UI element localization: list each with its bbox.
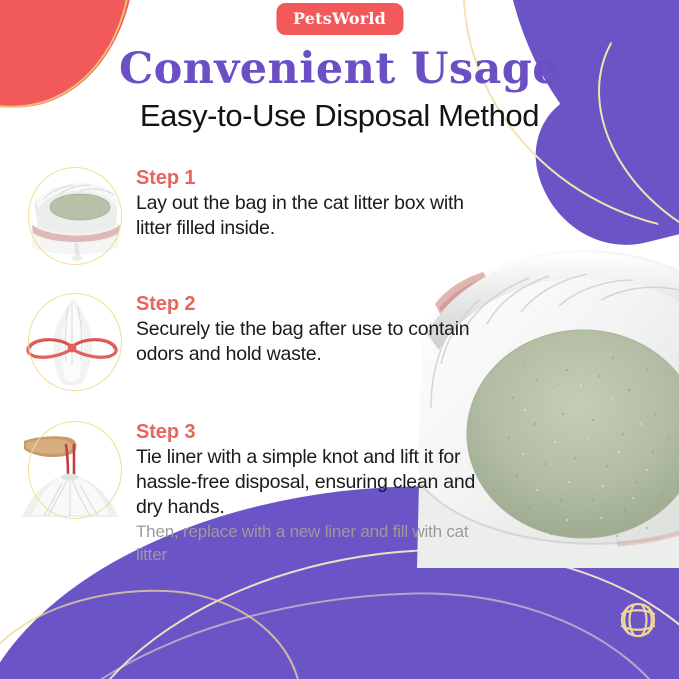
step-3-note: Then, replace with a new liner and fill … xyxy=(136,521,488,565)
step-1-body: Lay out the bag in the cat litter box wi… xyxy=(136,191,488,241)
step-item-2: Step 2 Securely tie the bag after use to… xyxy=(18,289,488,393)
step-2-title: Step 2 xyxy=(136,293,488,316)
step-3-title: Step 3 xyxy=(136,421,488,444)
step-item-1: Step 1 Lay out the bag in the cat litter… xyxy=(18,163,488,267)
step-2-text: Step 2 Securely tie the bag after use to… xyxy=(126,289,488,367)
litter-box-with-liner-thumbnail xyxy=(18,163,126,267)
gold-ring-1 xyxy=(28,167,122,265)
hand-lifting-bag-thumbnail xyxy=(18,417,126,521)
steps-list: Step 1 Lay out the bag in the cat litter… xyxy=(18,163,488,582)
tied-bag-with-bow-thumbnail xyxy=(18,289,126,393)
step-1-title: Step 1 xyxy=(136,167,488,190)
page-title: Convenient Usage xyxy=(0,44,679,94)
gold-ring-3 xyxy=(28,421,122,519)
step-3-text: Step 3 Tie liner with a simple knot and … xyxy=(126,417,488,566)
yarn-ball-icon xyxy=(615,597,661,643)
brand-logo: PetsWorld xyxy=(276,3,403,35)
step-3-body: Tie liner with a simple knot and lift it… xyxy=(136,445,488,520)
step-2-body: Securely tie the bag after use to contai… xyxy=(136,317,488,367)
infographic-canvas: PetsWorld Convenient Usage Easy-to-Use D… xyxy=(0,0,679,679)
gold-ring-2 xyxy=(28,293,122,391)
page-subtitle: Easy-to-Use Disposal Method xyxy=(0,98,679,134)
step-1-text: Step 1 Lay out the bag in the cat litter… xyxy=(126,163,488,241)
step-item-3: Step 3 Tie liner with a simple knot and … xyxy=(18,417,488,566)
